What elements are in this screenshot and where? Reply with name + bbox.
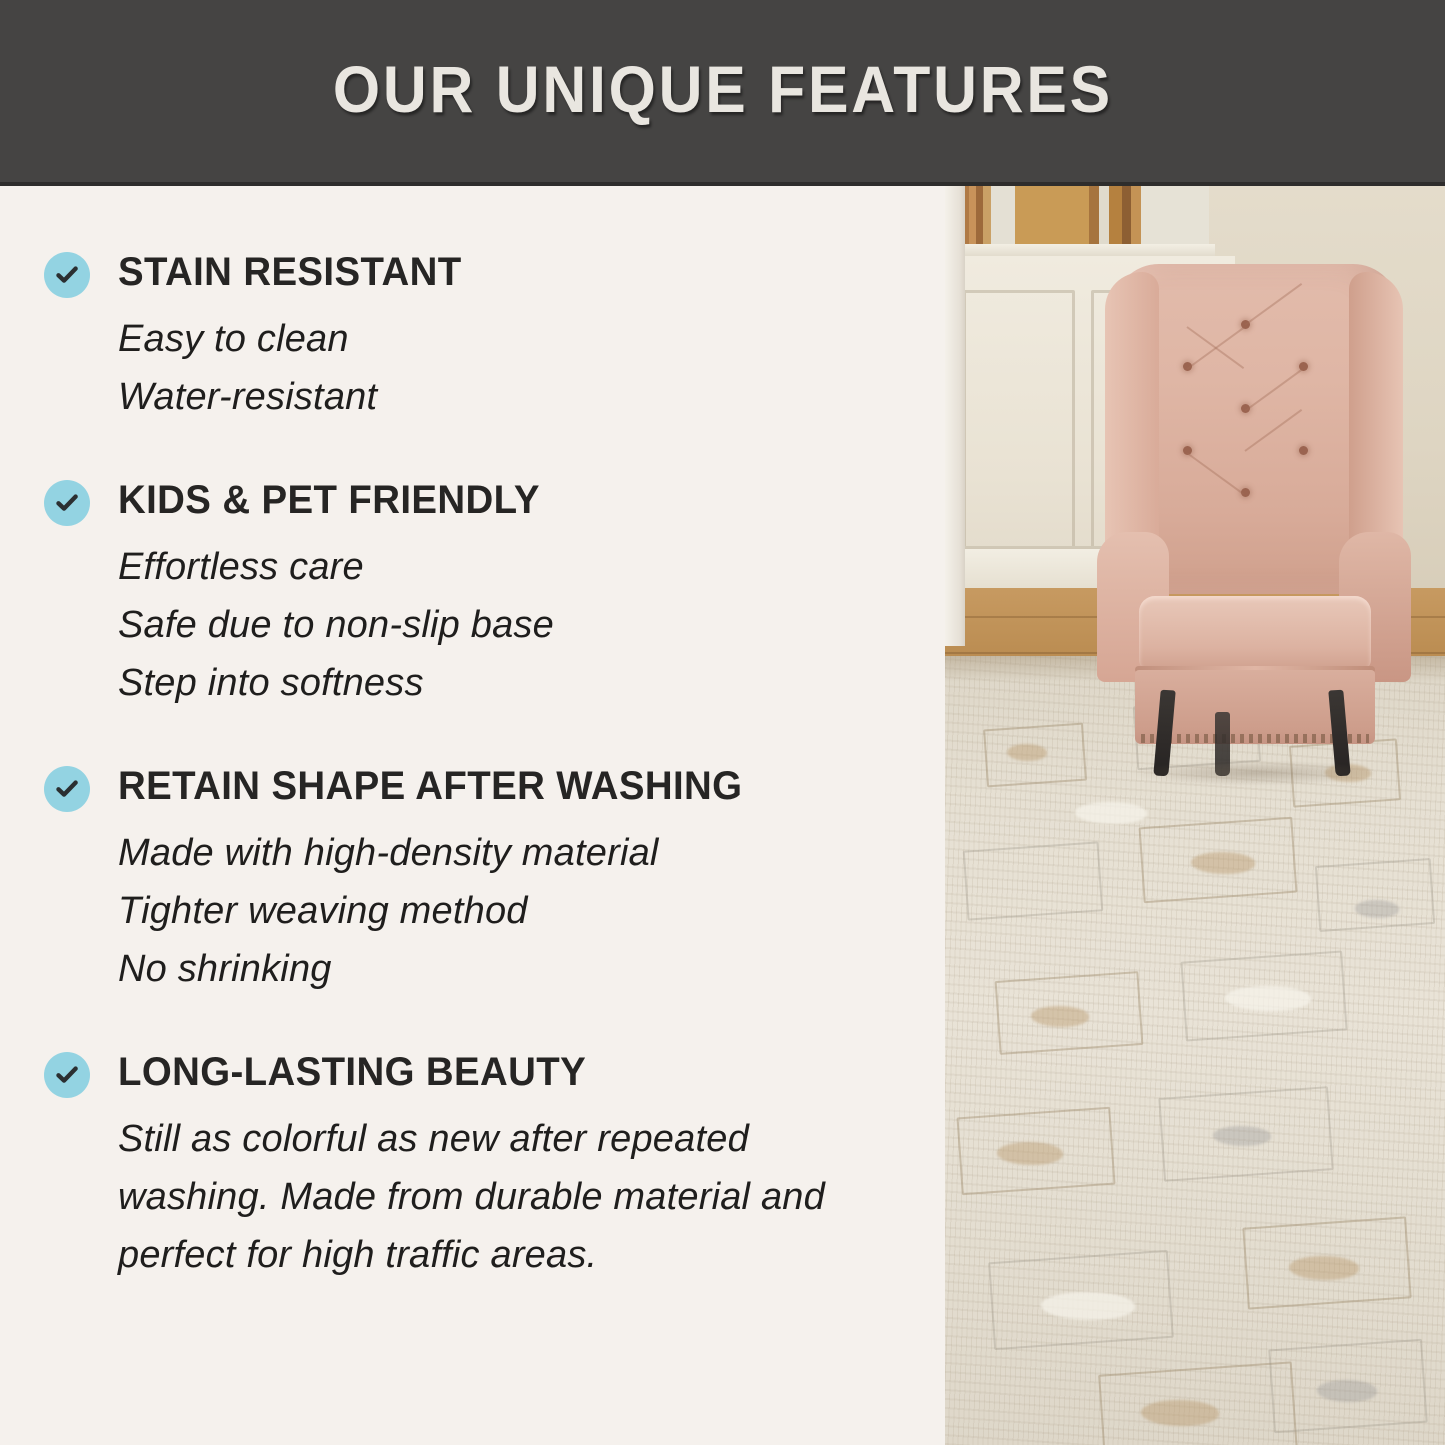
feature-title: KIDS & PET FRIENDLY [118,478,879,523]
feature-item-kids-pet-friendly: KIDS & PET FRIENDLY Effortless care Safe… [44,478,911,712]
room-scene [945,186,1445,1445]
check-circle-icon [44,766,90,812]
feature-title: LONG-LASTING BEAUTY [118,1050,879,1095]
check-circle-icon [44,1052,90,1098]
feature-title: STAIN RESISTANT [118,250,879,295]
feature-item-stain-resistant: STAIN RESISTANT Easy to clean Water-resi… [44,250,911,426]
check-circle-icon [44,480,90,526]
chair-seat-cushion [1139,596,1371,670]
feature-title: RETAIN SHAPE AFTER WASHING [118,764,879,809]
chair-shadow [1129,760,1381,786]
feature-line-list: Effortless care Safe due to non-slip bas… [118,539,911,712]
armchair [1095,264,1413,776]
feature-line-list: Still as colorful as new after repeated … [118,1111,911,1284]
page-title: OUR UNIQUE FEATURES [333,51,1113,127]
feature-item-long-lasting-beauty: LONG-LASTING BEAUTY Still as colorful as… [44,1050,911,1284]
check-circle-icon [44,252,90,298]
feature-line-list: Easy to clean Water-resistant [118,311,911,427]
feature-infographic: OUR UNIQUE FEATURES STAIN RESISTANT Easy… [0,0,1445,1445]
features-panel: STAIN RESISTANT Easy to clean Water-resi… [0,186,945,1445]
feature-line-list: Made with high-density material Tighter … [118,825,911,998]
feature-line: Easy to clean [118,311,911,369]
door-frame [945,186,965,646]
chair-wing-right [1349,272,1403,572]
feature-line: Made with high-density material [118,825,911,883]
books-on-shelf [959,186,1209,248]
feature-line: No shrinking [118,941,911,999]
feature-line: Step into softness [118,655,911,713]
feature-line: Tighter weaving method [118,883,911,941]
feature-line: Effortless care [118,539,911,597]
header-bar: OUR UNIQUE FEATURES [0,0,1445,186]
feature-line: Water-resistant [118,369,911,427]
feature-line: Still as colorful as new after repeated … [118,1111,911,1284]
product-photo [945,186,1445,1445]
feature-item-retain-shape: RETAIN SHAPE AFTER WASHING Made with hig… [44,764,911,998]
chair-wing-left [1105,272,1159,572]
feature-line: Safe due to non-slip base [118,597,911,655]
